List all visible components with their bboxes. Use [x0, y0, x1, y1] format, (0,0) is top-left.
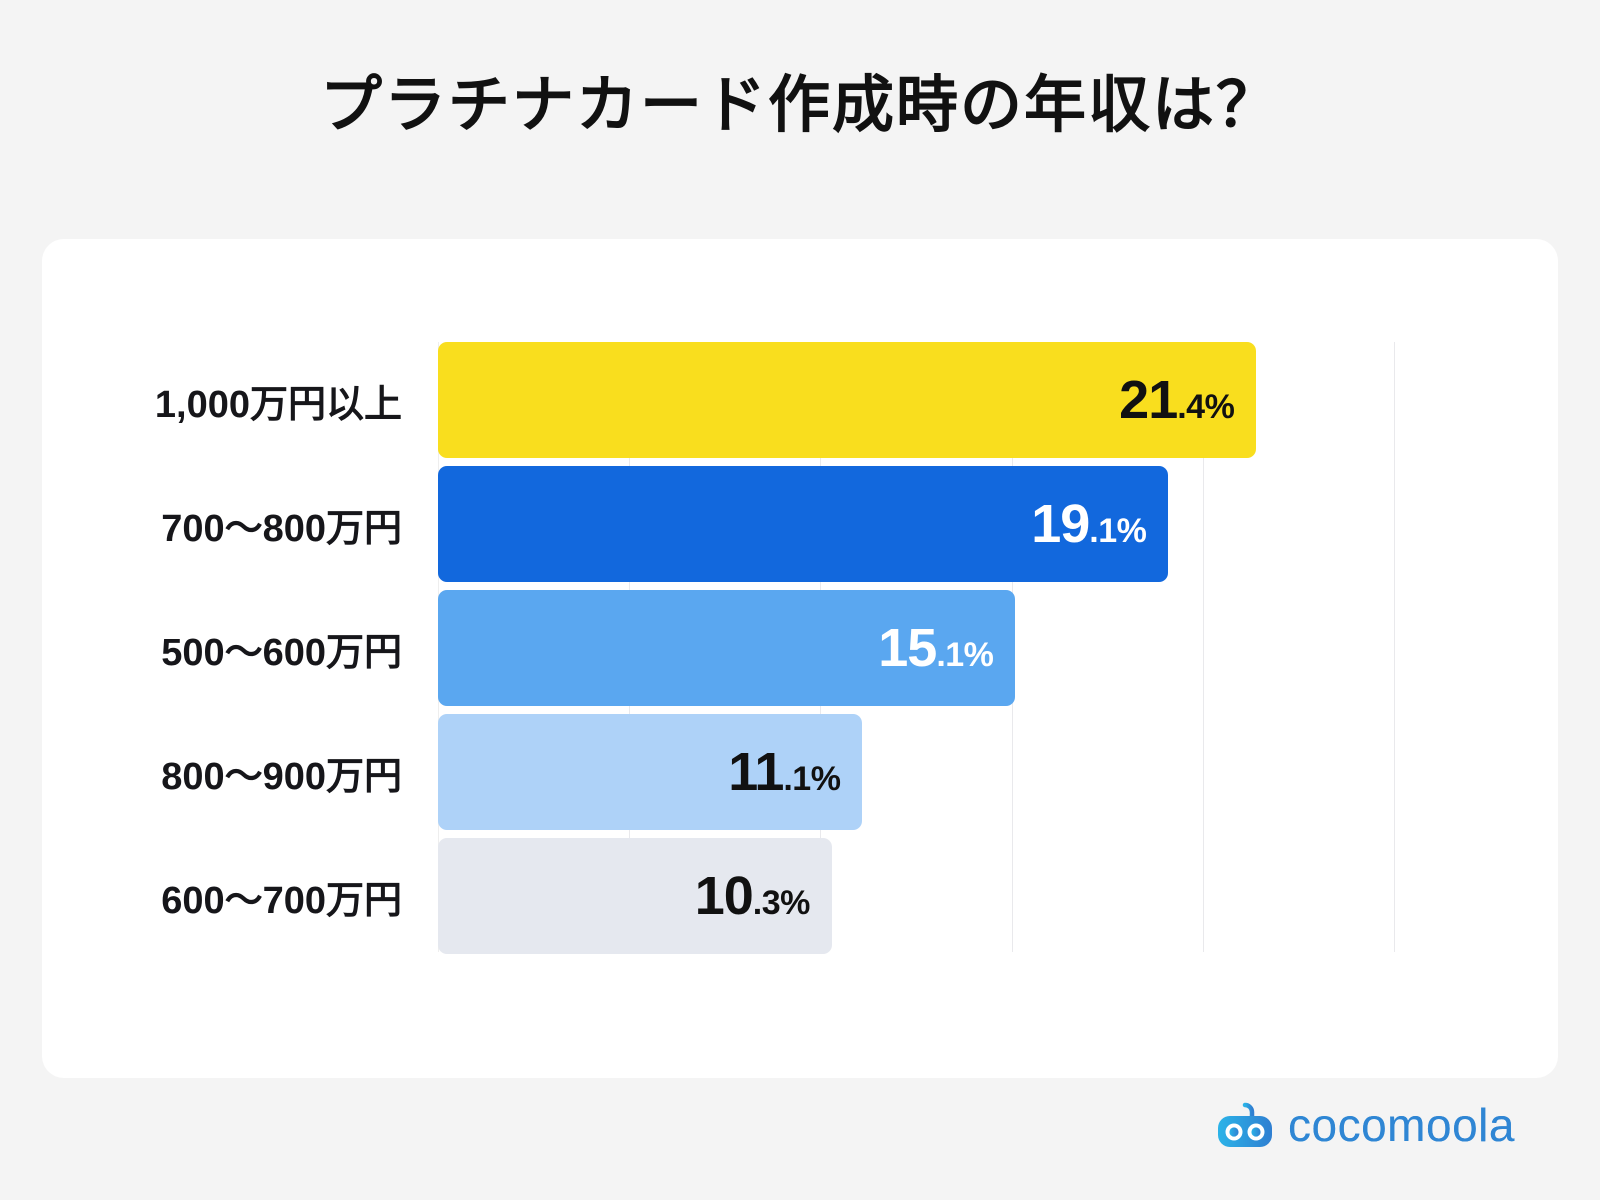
bar-value-decimal: .4%	[1177, 390, 1234, 424]
bar-category-label: 500〜600万円	[161, 590, 438, 706]
bar-value-integer: 10	[695, 869, 753, 923]
bar[interactable]: 11.1%	[438, 714, 862, 830]
robot-head-icon	[1216, 1101, 1274, 1149]
bar-value-label: 19.1%	[1031, 497, 1168, 551]
bar-value-integer: 15	[878, 621, 936, 675]
bar-value-decimal: .3%	[753, 886, 810, 920]
bar-row: 700〜800万円19.1%	[438, 466, 1394, 582]
bar[interactable]: 10.3%	[438, 838, 832, 954]
bar-category-label: 800〜900万円	[161, 714, 438, 830]
bar-value-label: 21.4%	[1119, 373, 1256, 427]
bar-row: 600〜700万円10.3%	[438, 838, 1394, 954]
bar-value-label: 11.1%	[728, 745, 862, 799]
bar-value-integer: 11	[728, 745, 783, 799]
chart-card: 1,000万円以上21.4%700〜800万円19.1%500〜600万円15.…	[42, 239, 1558, 1078]
bar-value-label: 15.1%	[878, 621, 1015, 675]
bar-value-integer: 19	[1031, 497, 1089, 551]
bar-row: 800〜900万円11.1%	[438, 714, 1394, 830]
bar-row: 1,000万円以上21.4%	[438, 342, 1394, 458]
bar-category-label: 1,000万円以上	[155, 342, 438, 458]
plot-area: 1,000万円以上21.4%700〜800万円19.1%500〜600万円15.…	[438, 342, 1394, 952]
bar-value-integer: 21	[1119, 373, 1177, 427]
brand-name: cocomoola	[1288, 1102, 1515, 1148]
bar-category-label: 700〜800万円	[161, 466, 438, 582]
bar-rows: 1,000万円以上21.4%700〜800万円19.1%500〜600万円15.…	[438, 342, 1394, 952]
bar[interactable]: 15.1%	[438, 590, 1015, 706]
bar-value-decimal: .1%	[1089, 514, 1146, 548]
page-title: プラチナカード作成時の年収は？	[320, 72, 1280, 140]
bar-category-label: 600〜700万円	[161, 838, 438, 954]
bar-row: 500〜600万円15.1%	[438, 590, 1394, 706]
title-section: プラチナカード作成時の年収は？	[0, 72, 1600, 140]
bar[interactable]: 21.4%	[438, 342, 1256, 458]
brand-logo: cocomoola	[1216, 1094, 1515, 1156]
bar-value-label: 10.3%	[695, 869, 832, 923]
bar-value-decimal: .1%	[783, 762, 840, 796]
gridline	[1394, 342, 1395, 952]
bar[interactable]: 19.1%	[438, 466, 1168, 582]
bar-value-decimal: .1%	[936, 638, 993, 672]
